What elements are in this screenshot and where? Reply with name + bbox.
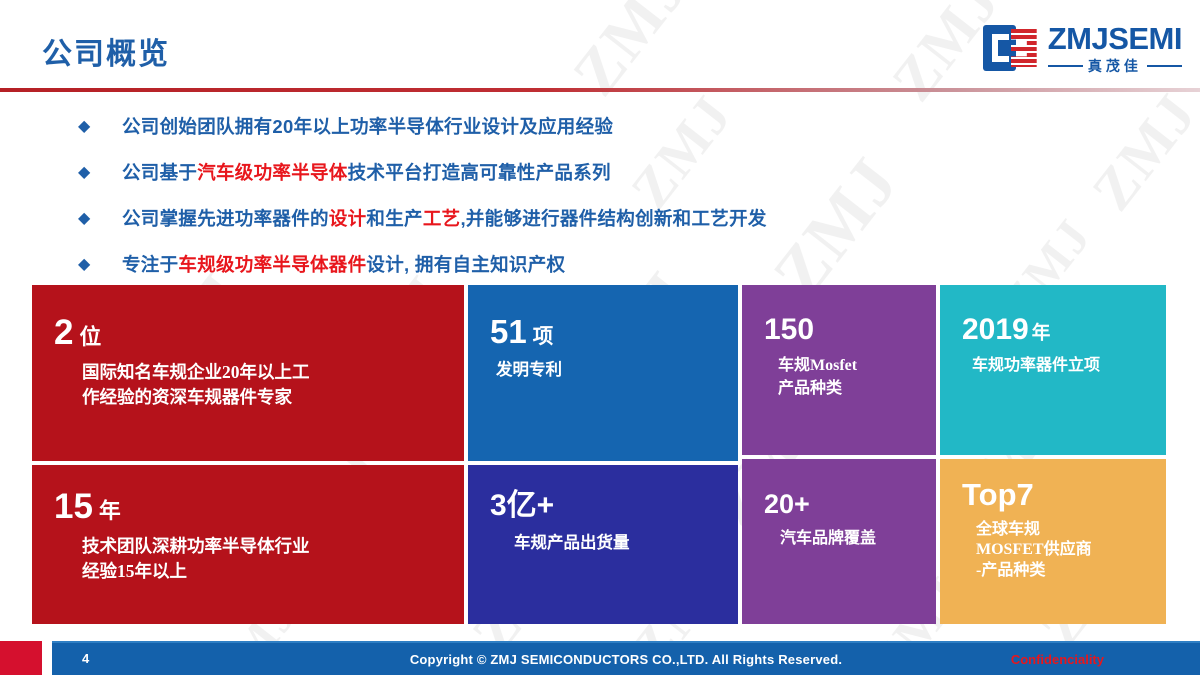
stat-number: 20+ bbox=[764, 491, 914, 518]
page-title: 公司概览 bbox=[42, 29, 170, 73]
bullet-text: 公司创始团队拥有20年以上功率半导体行业设计及应用经验 bbox=[122, 112, 613, 142]
stat-panel-grid: 2位 国际知名车规企业20年以上工作经验的资深车规器件专家 15年 技术团队深耕… bbox=[32, 285, 1166, 624]
stat-description: 技术团队深耕功率半导体行业经验15年以上 bbox=[82, 534, 442, 584]
stat-unit: 年 bbox=[99, 498, 121, 523]
bullet-segment: 设计, 拥有自主知识产权 bbox=[366, 254, 565, 275]
bullet-diamond-icon: ◆ bbox=[78, 250, 122, 280]
stat-column-purple: 150 车规Mosfet产品种类 20+ 汽车品牌覆盖 bbox=[742, 285, 936, 624]
stat-description-line: 车规产品出货量 bbox=[514, 531, 716, 554]
stat-description: 汽车品牌覆盖 bbox=[780, 528, 914, 551]
confidentiality-label: Confidenciality bbox=[1011, 652, 1104, 667]
slide-footer: 4 Copyright © ZMJ SEMICONDUCTORS CO.,LTD… bbox=[0, 637, 1200, 675]
bullet-item: ◆公司基于汽车级功率半导体技术平台打造高可靠性产品系列 bbox=[78, 158, 1158, 204]
logo-text: ZMJSEMI 真茂佳 bbox=[1048, 23, 1182, 73]
logo-subtitle: 真茂佳 bbox=[1088, 59, 1142, 73]
bullet-segment: 公司基于 bbox=[122, 162, 197, 183]
title-underline-rule bbox=[0, 88, 1200, 92]
stat-description-line: 国际知名车规企业20年以上工 bbox=[82, 360, 442, 385]
bullet-segment: 公司掌握先进功率器件的 bbox=[122, 208, 329, 229]
bullet-text: 专注于车规级功率半导体器件设计, 拥有自主知识产权 bbox=[122, 250, 565, 280]
stat-description-line: 产品种类 bbox=[778, 378, 914, 401]
bullet-segment: 技术平台打造高可靠性产品系列 bbox=[348, 162, 611, 183]
bullet-diamond-icon: ◆ bbox=[78, 112, 122, 142]
bullet-item: ◆公司创始团队拥有20年以上功率半导体行业设计及应用经验 bbox=[78, 112, 1158, 158]
logo-subtitle-row: 真茂佳 bbox=[1048, 59, 1182, 73]
stat-unit: 年 bbox=[1032, 322, 1051, 343]
stat-description-line: 车规Mosfet bbox=[778, 355, 914, 378]
footer-bar: 4 Copyright © ZMJ SEMICONDUCTORS CO.,LTD… bbox=[52, 641, 1200, 675]
bullet-segment: 专注于 bbox=[122, 254, 178, 275]
stat-card-experts: 2位 国际知名车规企业20年以上工作经验的资深车规器件专家 bbox=[32, 285, 464, 461]
stat-number: 51项 bbox=[490, 315, 716, 348]
bullet-segment: 和生产 bbox=[366, 208, 422, 229]
stat-card-mosfet-types: 150 车规Mosfet产品种类 bbox=[742, 285, 936, 455]
company-logo: ZMJSEMI 真茂佳 bbox=[983, 22, 1182, 74]
stat-description-line: 发明专利 bbox=[496, 358, 716, 381]
stat-number: 2019年 bbox=[962, 315, 1144, 345]
stat-description: 车规功率器件立项 bbox=[972, 355, 1144, 377]
stat-number: 3亿+ bbox=[490, 491, 716, 521]
stat-description-line: 技术团队深耕功率半导体行业 bbox=[82, 534, 442, 559]
stat-number: Top7 bbox=[962, 479, 1144, 510]
logo-rule-right bbox=[1147, 65, 1182, 67]
bullet-item: ◆公司掌握先进功率器件的设计和生产工艺,并能够进行器件结构创新和工艺开发 bbox=[78, 204, 1158, 250]
stat-description-line: -产品种类 bbox=[976, 561, 1144, 581]
stat-description: 车规Mosfet产品种类 bbox=[778, 355, 914, 400]
stat-unit: 位 bbox=[79, 324, 101, 349]
stat-description-line: 全球车规 bbox=[976, 520, 1144, 540]
stat-description-line: 车规功率器件立项 bbox=[972, 355, 1144, 377]
bullet-segment: 公司创始团队拥有 bbox=[122, 116, 272, 137]
bullet-segment: 以上功率半导体行业设计及应用经验 bbox=[312, 116, 613, 137]
bullet-segment: 设计 bbox=[329, 208, 367, 229]
bullet-text: 公司基于汽车级功率半导体技术平台打造高可靠性产品系列 bbox=[122, 158, 611, 188]
bullet-diamond-icon: ◆ bbox=[78, 204, 122, 234]
slide-canvas: ZMJZMJZMJZMJZMJZMJZMJZMJZMJZMJZMJZMJZMJZ… bbox=[0, 0, 1200, 675]
stat-card-global-rank: Top7 全球车规MOSFET供应商-产品种类 bbox=[940, 459, 1166, 624]
bullet-segment: ,并能够进行器件结构创新和工艺开发 bbox=[460, 208, 766, 229]
bullet-text: 公司掌握先进功率器件的设计和生产工艺,并能够进行器件结构创新和工艺开发 bbox=[122, 204, 767, 234]
stat-column-teal: 2019年 车规功率器件立项 Top7 全球车规MOSFET供应商-产品种类 bbox=[940, 285, 1166, 624]
footer-red-block bbox=[0, 641, 42, 675]
stat-description-line: 汽车品牌覆盖 bbox=[780, 528, 914, 551]
bullet-segment: 汽车级功率半导体 bbox=[197, 162, 347, 183]
stat-description-line: 作经验的资深车规器件专家 bbox=[82, 385, 442, 410]
stat-unit: 项 bbox=[533, 325, 553, 348]
bullet-diamond-icon: ◆ bbox=[78, 158, 122, 188]
stat-column-red: 2位 国际知名车规企业20年以上工作经验的资深车规器件专家 15年 技术团队深耕… bbox=[32, 285, 464, 624]
bullet-segment: 20年 bbox=[272, 116, 312, 137]
bullet-segment: 车规级功率半导体器件 bbox=[178, 254, 366, 275]
stat-column-blue: 51项 发明专利 3亿+ 车规产品出货量 bbox=[468, 285, 738, 624]
stat-description: 车规产品出货量 bbox=[514, 531, 716, 554]
logo-rule-left bbox=[1048, 65, 1083, 67]
logo-mark-icon bbox=[983, 25, 1039, 71]
stat-description: 国际知名车规企业20年以上工作经验的资深车规器件专家 bbox=[82, 360, 442, 410]
stat-description: 全球车规MOSFET供应商-产品种类 bbox=[976, 520, 1144, 581]
logo-name: ZMJSEMI bbox=[1048, 23, 1182, 54]
stat-card-brand-coverage: 20+ 汽车品牌覆盖 bbox=[742, 459, 936, 624]
stat-card-project-year: 2019年 车规功率器件立项 bbox=[940, 285, 1166, 455]
stat-number: 2位 bbox=[54, 315, 442, 350]
stat-card-team-years: 15年 技术团队深耕功率半导体行业经验15年以上 bbox=[32, 465, 464, 624]
bullet-list: ◆公司创始团队拥有20年以上功率半导体行业设计及应用经验◆公司基于汽车级功率半导… bbox=[78, 112, 1158, 296]
stat-card-shipments: 3亿+ 车规产品出货量 bbox=[468, 465, 738, 624]
stat-description: 发明专利 bbox=[496, 358, 716, 381]
bullet-segment: 工艺 bbox=[423, 208, 461, 229]
stat-description-line: 经验15年以上 bbox=[82, 559, 442, 584]
stat-number: 150 bbox=[764, 315, 914, 345]
stat-card-patents: 51项 发明专利 bbox=[468, 285, 738, 461]
slide-header: 公司概览 ZMJSEMI 真茂佳 bbox=[0, 0, 1200, 98]
stat-number: 15年 bbox=[54, 489, 442, 524]
stat-description-line: MOSFET供应商 bbox=[976, 540, 1144, 560]
